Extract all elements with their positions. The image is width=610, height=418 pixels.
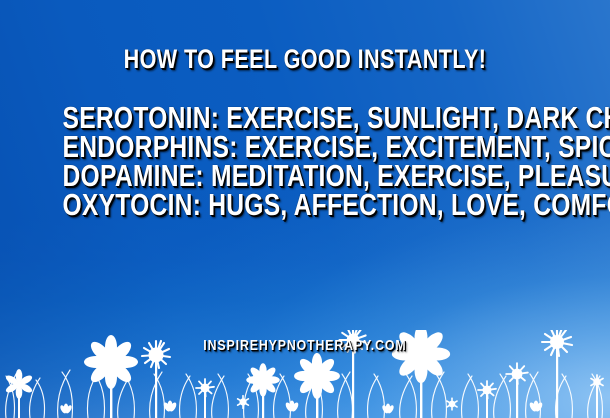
hormone-line-dopamine: DOPAMINE: MEDITATION, EXERCISE, PLEASURE [63, 162, 548, 190]
hormone-line-oxytocin: OXYTOCIN: HUGS, AFFECTION, LOVE, COMFORT [63, 191, 548, 219]
hormone-line-endorphins: ENDORPHINS: EXERCISE, EXCITEMENT, SPICY … [63, 133, 548, 161]
poster-canvas: HOW TO FEEL GOOD INSTANTLY! SEROTONIN: E… [0, 0, 610, 418]
site-watermark: INSPIREHYPNOTHERAPY.COM [0, 338, 610, 354]
hormone-line-serotonin: SEROTONIN: EXERCISE, SUNLIGHT, DARK CHOC… [63, 104, 548, 132]
hormone-list: SEROTONIN: EXERCISE, SUNLIGHT, DARK CHOC… [0, 104, 610, 220]
site-watermark-label: INSPIREHYPNOTHERAPY.COM [203, 338, 406, 354]
poster-title: HOW TO FEEL GOOD INSTANTLY! [61, 44, 549, 74]
